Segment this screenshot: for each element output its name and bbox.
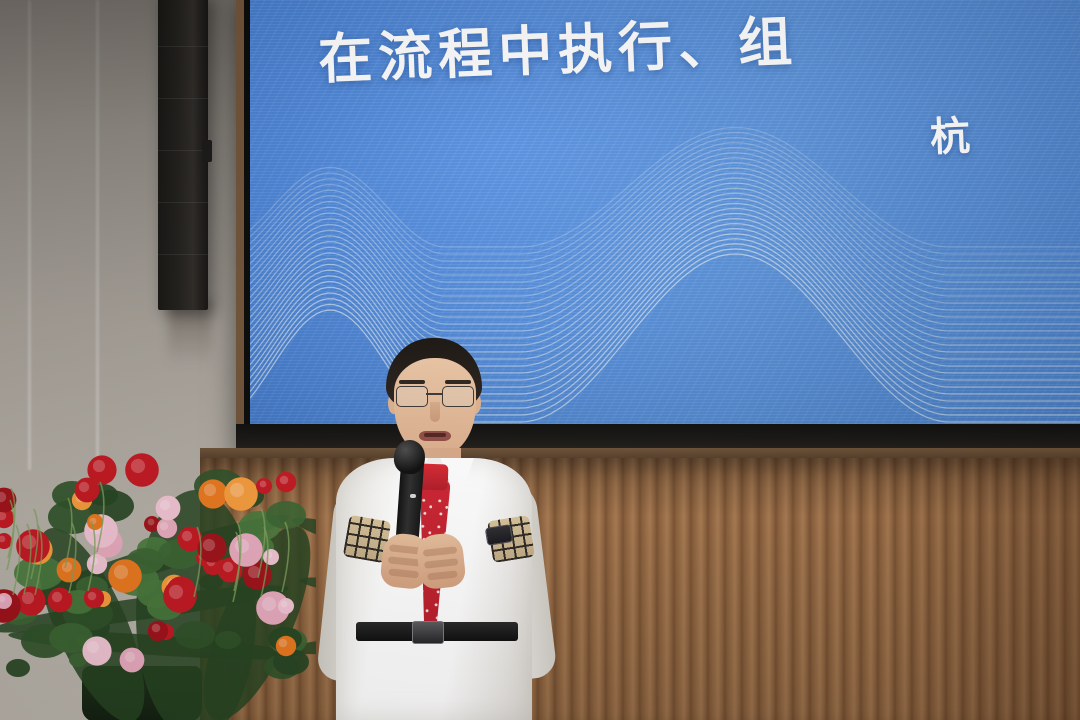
belt-buckle	[412, 621, 444, 644]
glasses-bridge	[426, 393, 442, 395]
wood-right-shading	[880, 458, 1080, 720]
right-hand	[415, 532, 466, 591]
glasses-right-lens	[442, 386, 474, 407]
nose	[430, 402, 440, 422]
photo-stage: 在流程中执行、组 杭	[0, 0, 1080, 720]
line-array-speaker	[158, 0, 208, 310]
floral-arrangement	[0, 430, 316, 720]
flower-blooms	[0, 430, 316, 720]
slide-subtitle: 杭	[929, 103, 981, 163]
keynote-speaker	[300, 330, 590, 720]
glasses-left-lens	[396, 386, 428, 407]
wall-seam	[28, 0, 31, 470]
wall-seam	[96, 0, 99, 470]
